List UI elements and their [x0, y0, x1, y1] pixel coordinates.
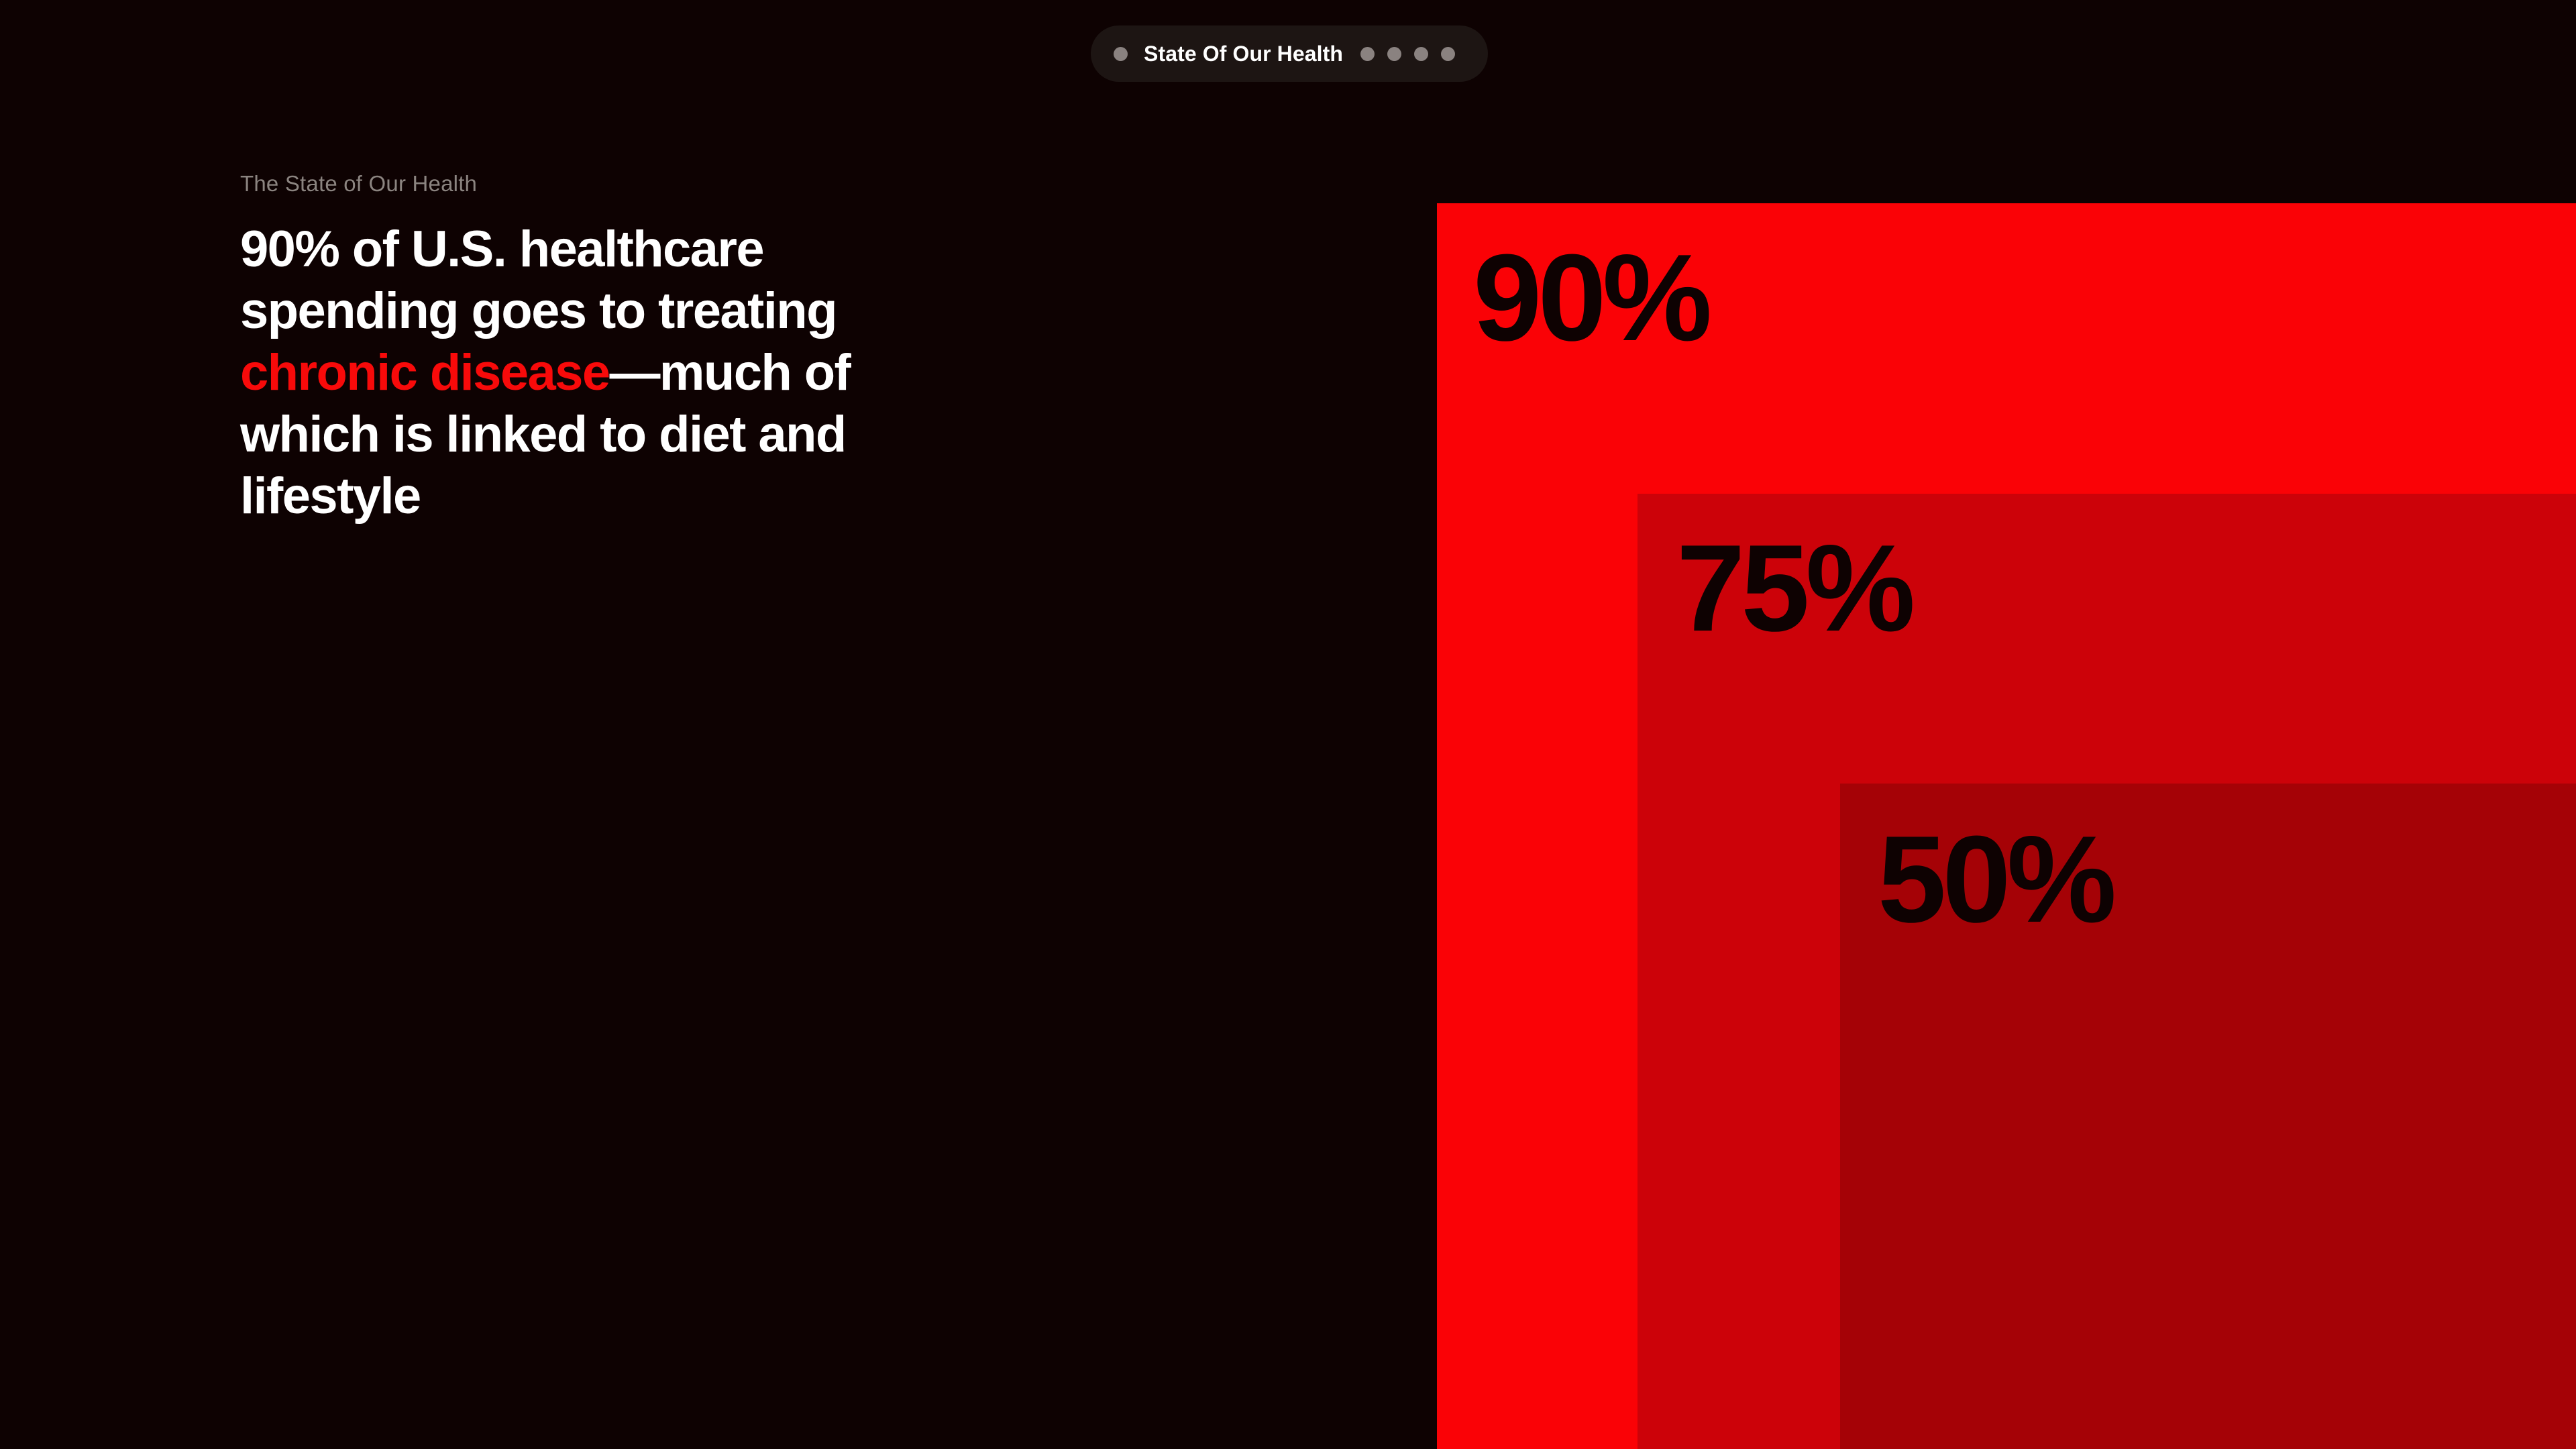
- headline-accent: chronic disease: [240, 344, 610, 401]
- progress-dot-icon-3[interactable]: [1414, 47, 1428, 61]
- stat-value-50: 50%: [1878, 817, 2112, 941]
- copy-column: The State of Our Health 90% of U.S. heal…: [240, 169, 951, 527]
- headline: 90% of U.S. healthcare spending goes to …: [240, 219, 951, 527]
- stat-panel-50: 50%: [1840, 784, 2576, 1449]
- stat-value-75: 75%: [1676, 526, 1911, 649]
- progress-dot-icon-2[interactable]: [1387, 47, 1401, 61]
- nav-progress-dots[interactable]: [1360, 47, 1455, 61]
- bullet-dot-icon: [1114, 47, 1128, 61]
- stat-value-90: 90%: [1473, 235, 1708, 359]
- nav-title: State Of Our Health: [1144, 42, 1343, 66]
- slide-canvas: State Of Our Health The State of Our Hea…: [0, 0, 2576, 1449]
- eyebrow-label: The State of Our Health: [240, 169, 951, 199]
- top-nav-pill[interactable]: State Of Our Health: [1091, 25, 1488, 82]
- progress-dot-icon-4[interactable]: [1441, 47, 1455, 61]
- headline-lead: 90% of U.S. healthcare spending goes to …: [240, 221, 837, 339]
- progress-dot-icon-1[interactable]: [1360, 47, 1375, 61]
